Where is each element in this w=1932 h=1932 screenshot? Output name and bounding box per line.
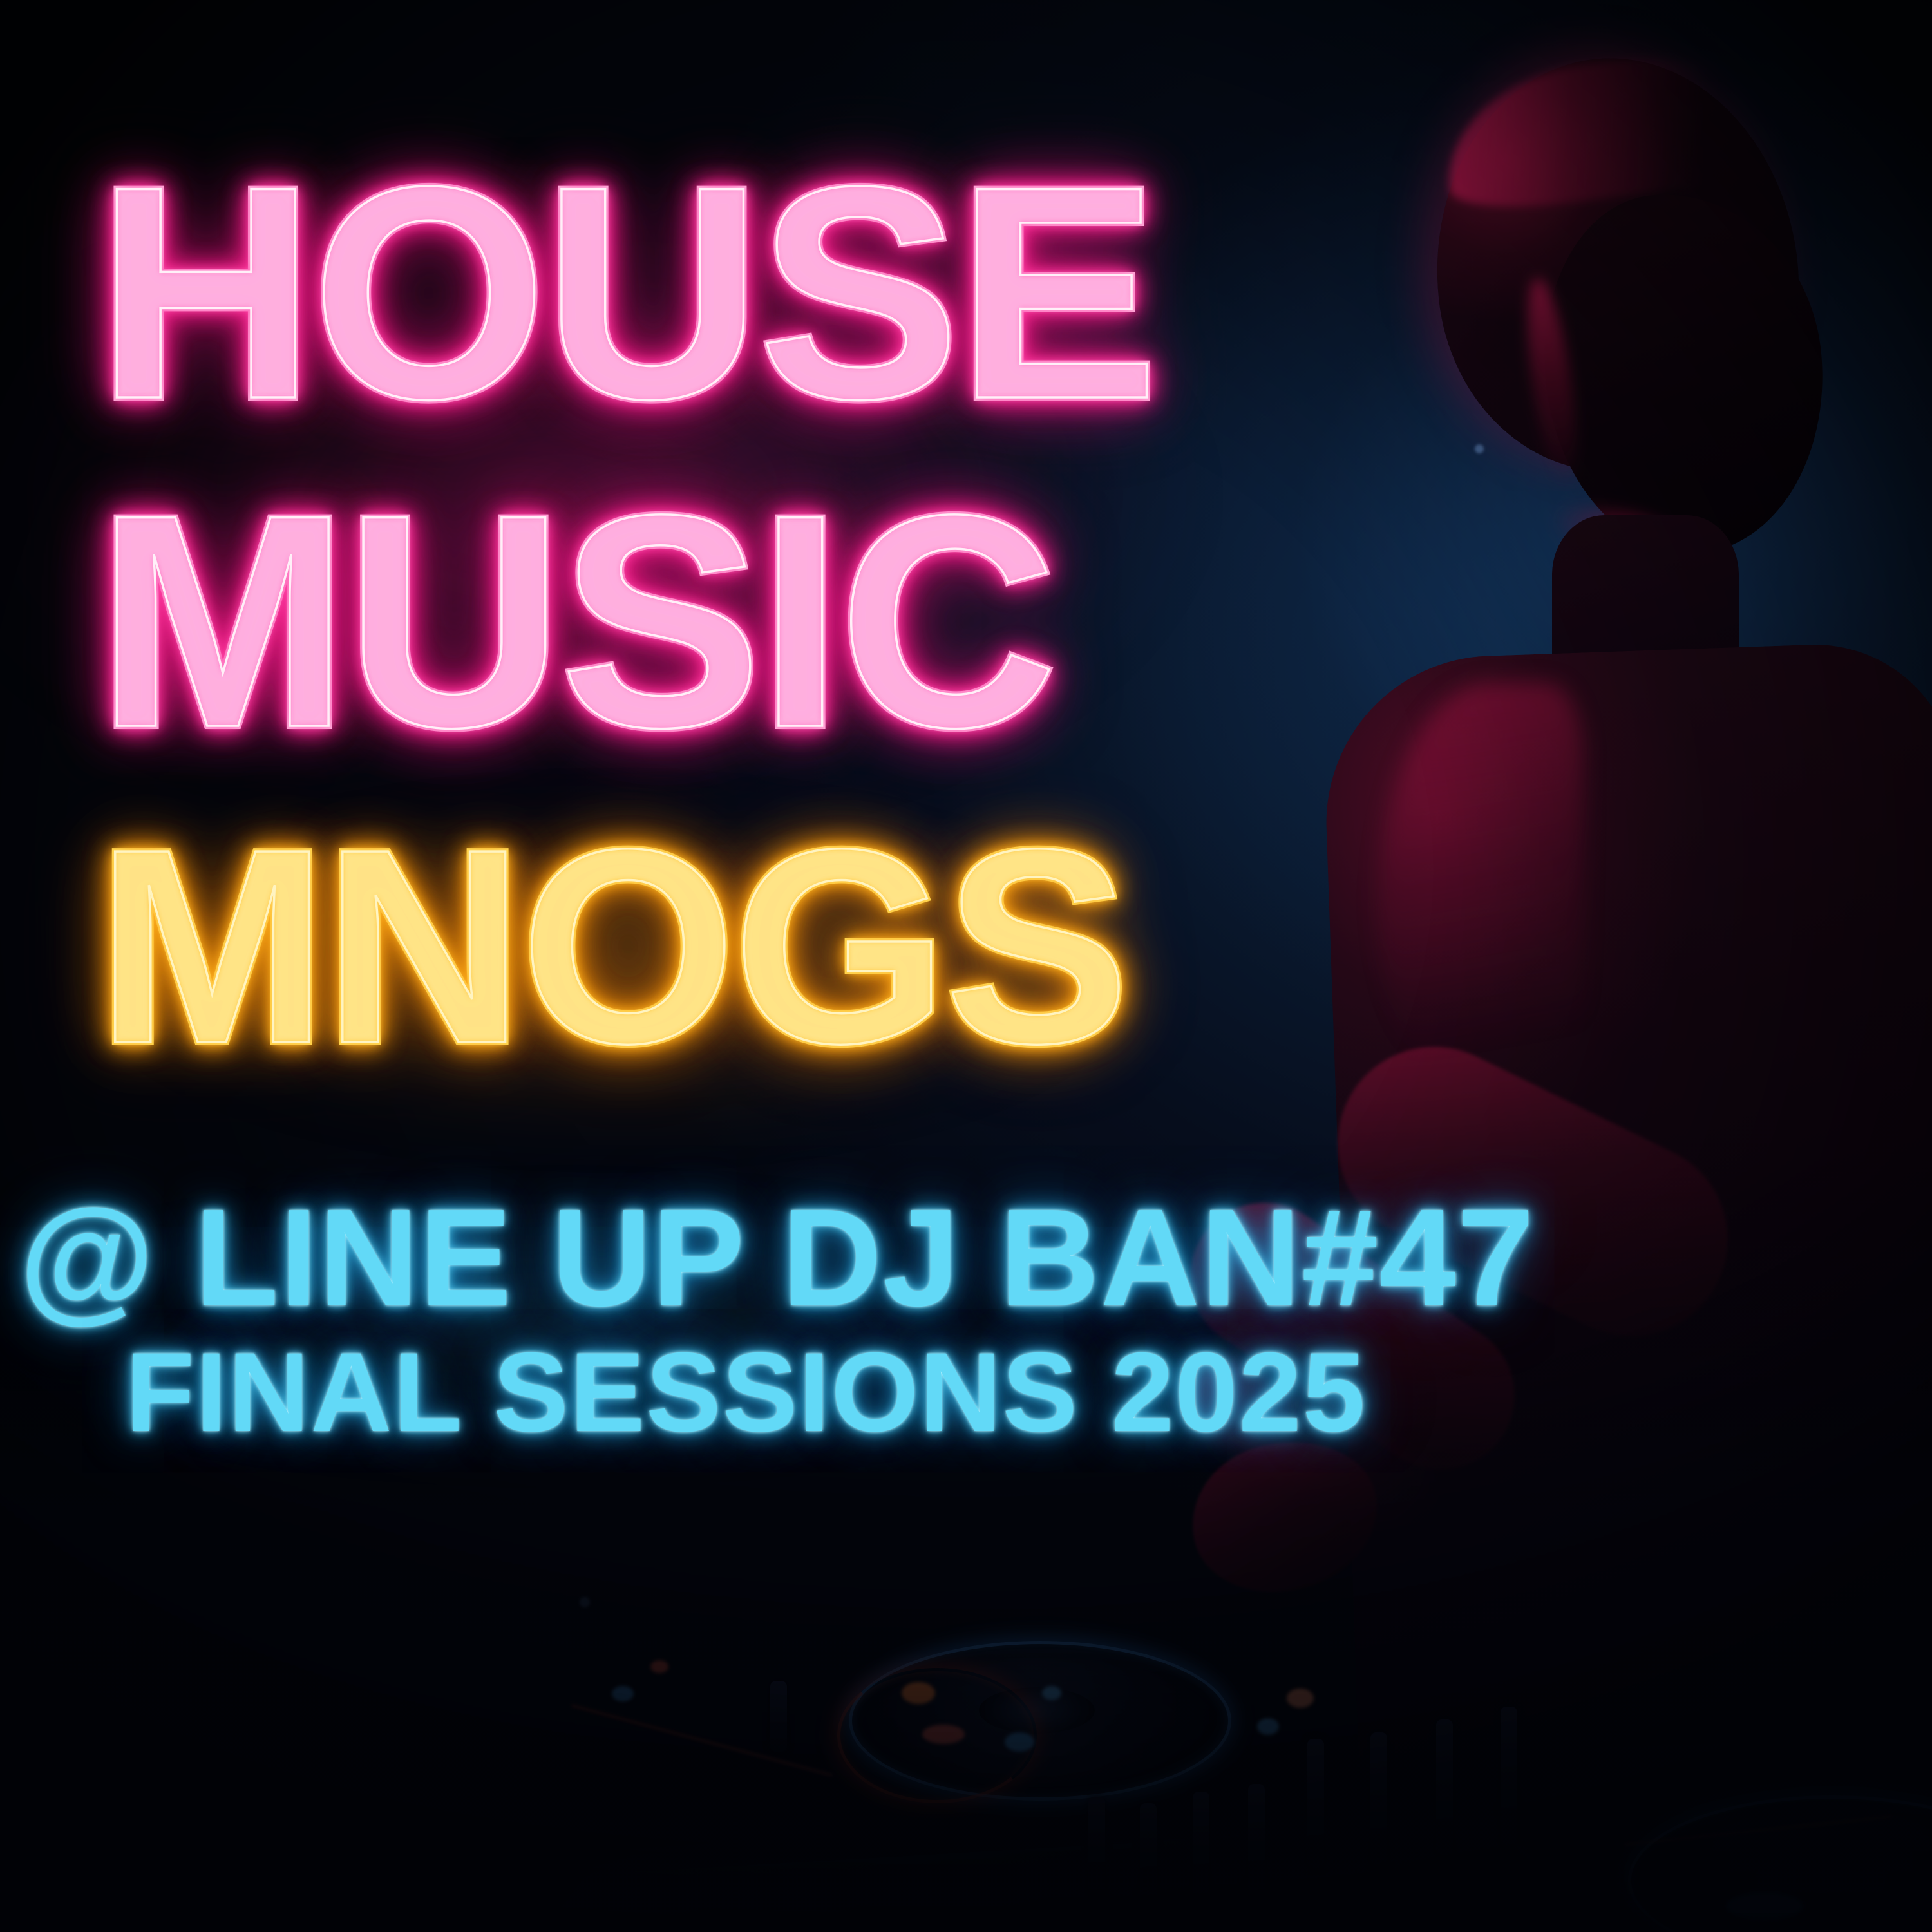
headline-house-core: HOUSE: [97, 142, 1155, 444]
headline-group: HOUSE HOUSE: [97, 142, 1385, 444]
headline-group-3: MNOGS MNOGS: [97, 808, 1385, 1085]
subhead-group: @ LINE UP DJ BAN#47: [19, 1188, 1307, 1327]
subhead-lineup-text: @ LINE UP DJ BAN#47: [19, 1188, 1307, 1327]
subhead-sessions-text: FINAL SESSIONS 2025: [126, 1336, 1414, 1449]
headline-house: HOUSE HOUSE: [97, 142, 1155, 444]
headline-group-2: MUSIC MUSIC: [97, 470, 1385, 773]
headline-music-core: MUSIC: [97, 470, 1054, 773]
headline-mnogs: MNOGS MNOGS: [97, 808, 1126, 1085]
subhead-group-2: FINAL SESSIONS 2025: [126, 1336, 1414, 1449]
headline-mnogs-core: MNOGS: [97, 808, 1126, 1085]
neon-event-poster: HOUSE HOUSE MUSIC MUSIC MNOGS MNOGS @ LI…: [0, 0, 1932, 1932]
headline-music: MUSIC MUSIC: [97, 470, 1054, 773]
